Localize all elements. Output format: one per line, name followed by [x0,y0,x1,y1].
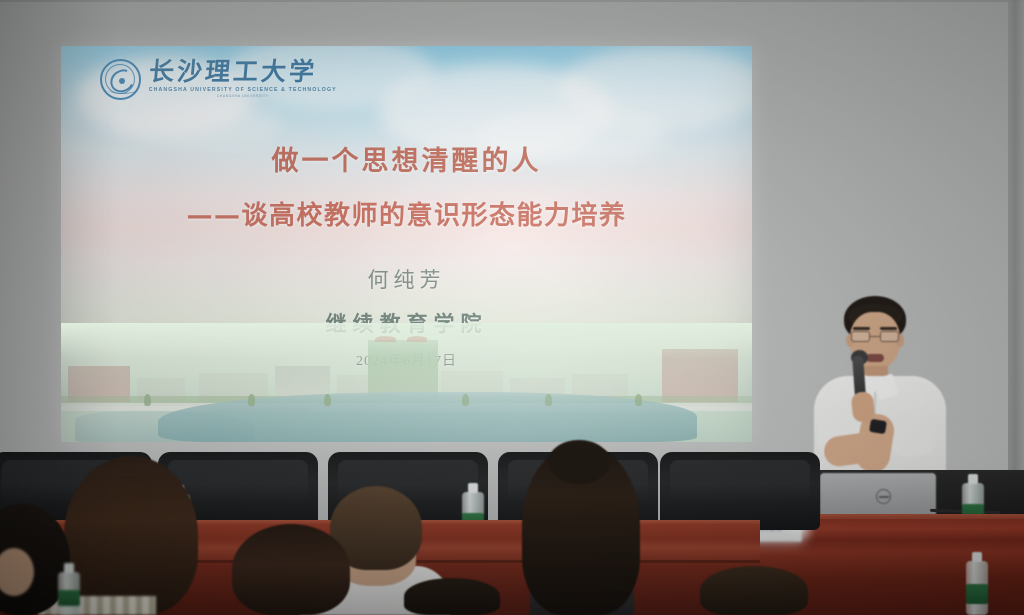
bottle-label [966,584,988,605]
university-logo: 长沙理工大学 CHANGSHA UNIVERSITY OF SCIENCE & … [100,59,337,100]
water-bottle [58,572,80,615]
campus-roof-cap [407,336,428,342]
university-seal-icon [100,59,141,100]
dell-logo-icon [876,489,891,504]
projection-screen: 长沙理工大学 CHANGSHA UNIVERSITY OF SCIENCE & … [61,46,752,442]
university-name-sub: CHANGSHA UNIVERSITY [149,95,337,98]
audience-person [700,566,808,615]
audience-person [64,456,198,615]
university-name-cn: 长沙理工大学 [148,60,338,85]
presenter-eyebrows [853,327,897,330]
wristwatch-icon [869,419,887,434]
campus-lake [158,392,697,442]
slide-subtitle: ——谈高校教师的意识形态能力培养 [61,195,752,232]
eyeglasses-icon [851,331,899,342]
university-name-en: CHANGSHA UNIVERSITY OF SCIENCE & TECHNOL… [149,88,337,93]
water-bottle [966,561,988,615]
university-wordmark: 长沙理工大学 CHANGSHA UNIVERSITY OF SCIENCE & … [149,60,337,99]
audience-person [232,524,350,615]
campus-panorama-image [61,323,752,442]
shirt-sleeve [888,412,936,456]
audience-hair-bun [548,440,610,484]
conference-chair [660,452,820,530]
ceiling-seam [0,0,1024,2]
wall-corner-edge [1008,0,1024,470]
presenter-mouth [866,354,884,362]
audience-person [404,578,500,615]
campus-roof-cap [375,336,396,342]
campus-building-right [662,349,738,401]
seal-arc-shape [108,85,137,94]
seal-center-dot [119,78,125,84]
slide-title: 做一个思想清醒的人 [61,139,752,178]
dell-laptop [820,473,936,519]
bottle-label [58,590,80,606]
slide-presenter-name: 何纯芳 [61,264,752,294]
lecture-hall-photo: 长沙理工大学 CHANGSHA UNIVERSITY OF SCIENCE & … [0,0,1024,615]
